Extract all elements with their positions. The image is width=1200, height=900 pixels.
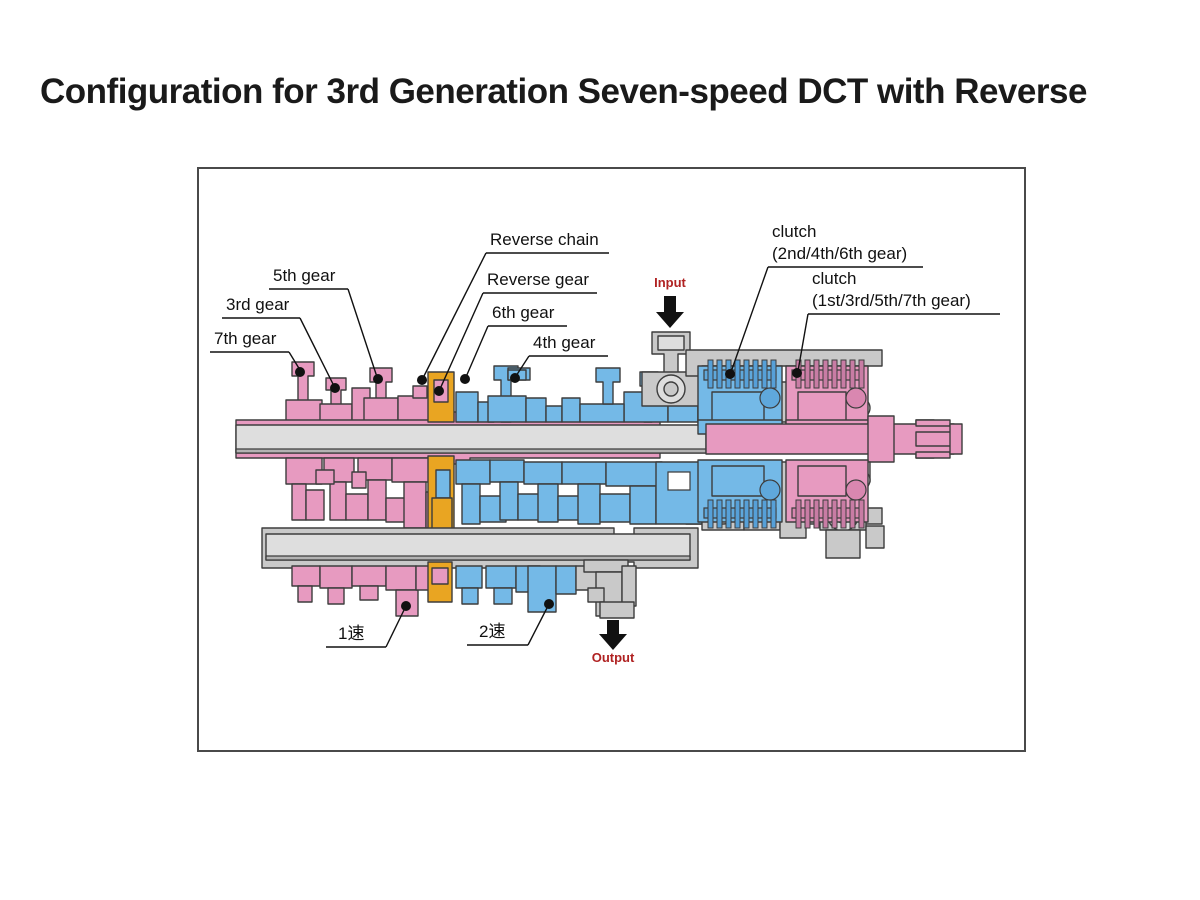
- label-clutch-odd: clutch: [812, 269, 856, 288]
- label-reverse-gear: Reverse gear: [487, 270, 589, 289]
- clutch-pack-odd-lower: [786, 460, 868, 528]
- pink-gear-cluster-upper: [286, 362, 430, 422]
- blue-gear-cluster-bottom: [456, 566, 576, 612]
- label-clutch-even-gears: (2nd/4th/6th gear): [772, 244, 907, 263]
- clutch-pack-even-lower: [698, 460, 782, 528]
- output-arrow-icon: [599, 620, 627, 650]
- label-5th-gear: 5th gear: [273, 266, 336, 285]
- output-marker: Output: [592, 620, 635, 665]
- label-6th-gear: 6th gear: [492, 303, 555, 322]
- label-clutch-even: clutch: [772, 222, 816, 241]
- input-arrow-icon: [656, 296, 684, 328]
- output-shaft-end: [916, 420, 962, 458]
- label-7th-gear: 7th gear: [214, 329, 277, 348]
- input-label: Input: [654, 275, 686, 290]
- label-speed-1: 1速: [338, 624, 364, 643]
- blue-gear-cluster-middle: [456, 460, 702, 524]
- label-4th-gear: 4th gear: [533, 333, 596, 352]
- output-label: Output: [592, 650, 635, 665]
- pink-gear-cluster-middle: [286, 458, 444, 528]
- output-pinion: [576, 560, 636, 618]
- clutch-pack-even-upper: [698, 360, 782, 434]
- mechanism-group: [236, 332, 962, 618]
- label-speed-2: 2速: [479, 622, 505, 641]
- label-clutch-odd-gears: (1st/3rd/5th/7th gear): [812, 291, 971, 310]
- label-3rd-gear: 3rd gear: [226, 295, 290, 314]
- input-marker: Input: [654, 275, 686, 328]
- label-reverse-chain: Reverse chain: [490, 230, 599, 249]
- seven-speed-dct-cross-section: 7th gear 3rd gear 5th gear Reverse chain…: [0, 0, 1200, 900]
